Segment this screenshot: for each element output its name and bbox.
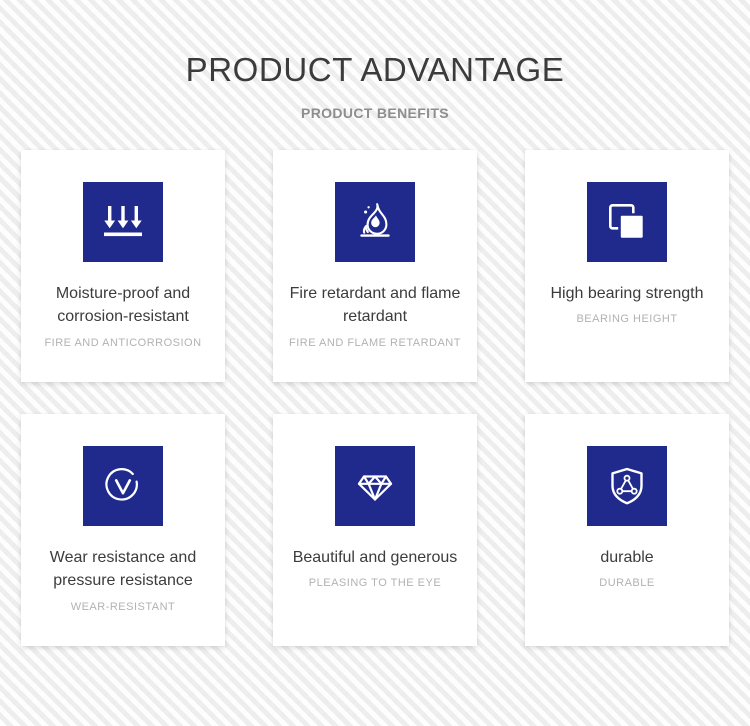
card-title: Moisture-proof and corrosion-resistant	[29, 282, 217, 328]
diamond-icon	[353, 464, 397, 508]
flame-icon	[353, 200, 397, 244]
card-title: Wear resistance and pressure resistance	[29, 546, 217, 592]
card-title: Beautiful and generous	[281, 546, 469, 569]
icon-tile	[335, 446, 415, 526]
moisture-arrows-icon	[101, 200, 145, 244]
advantage-card[interactable]: Wear resistance and pressure resistance …	[21, 414, 225, 646]
advantage-card[interactable]: Moisture-proof and corrosion-resistant F…	[21, 150, 225, 382]
advantage-card[interactable]: High bearing strength BEARING HEIGHT	[525, 150, 729, 382]
card-title: Fire retardant and flame retardant	[281, 282, 469, 328]
advantage-card[interactable]: durable DURABLE	[525, 414, 729, 646]
advantage-card-grid: Moisture-proof and corrosion-resistant F…	[21, 150, 729, 646]
card-text: Wear resistance and pressure resistance …	[29, 546, 217, 614]
page-subtitle: PRODUCT BENEFITS	[0, 105, 750, 121]
icon-tile	[335, 182, 415, 262]
shield-molecule-icon	[605, 464, 649, 508]
layers-squares-icon	[606, 201, 648, 243]
card-text: High bearing strength BEARING HEIGHT	[533, 282, 721, 326]
card-text: Beautiful and generous PLEASING TO THE E…	[281, 546, 469, 590]
icon-tile	[587, 182, 667, 262]
card-subtitle: DURABLE	[533, 576, 721, 590]
card-subtitle: PLEASING TO THE EYE	[281, 576, 469, 590]
section-header: PRODUCT ADVANTAGE PRODUCT BENEFITS	[0, 0, 750, 121]
card-subtitle: FIRE AND ANTICORROSION	[29, 336, 217, 350]
icon-tile	[587, 446, 667, 526]
page-title: PRODUCT ADVANTAGE	[0, 52, 750, 88]
advantage-card[interactable]: Beautiful and generous PLEASING TO THE E…	[273, 414, 477, 646]
advantage-card[interactable]: Fire retardant and flame retardant FIRE …	[273, 150, 477, 382]
card-text: Moisture-proof and corrosion-resistant F…	[29, 282, 217, 350]
card-subtitle: FIRE AND FLAME RETARDANT	[281, 336, 469, 350]
card-subtitle: WEAR-RESISTANT	[29, 600, 217, 614]
icon-tile	[83, 182, 163, 262]
card-title: High bearing strength	[533, 282, 721, 305]
card-text: durable DURABLE	[533, 546, 721, 590]
product-advantage-page: PRODUCT ADVANTAGE PRODUCT BENEFITS	[0, 0, 750, 726]
card-text: Fire retardant and flame retardant FIRE …	[281, 282, 469, 350]
card-subtitle: BEARING HEIGHT	[533, 312, 721, 326]
card-title: durable	[533, 546, 721, 569]
circle-chevron-icon	[101, 464, 145, 508]
icon-tile	[83, 446, 163, 526]
